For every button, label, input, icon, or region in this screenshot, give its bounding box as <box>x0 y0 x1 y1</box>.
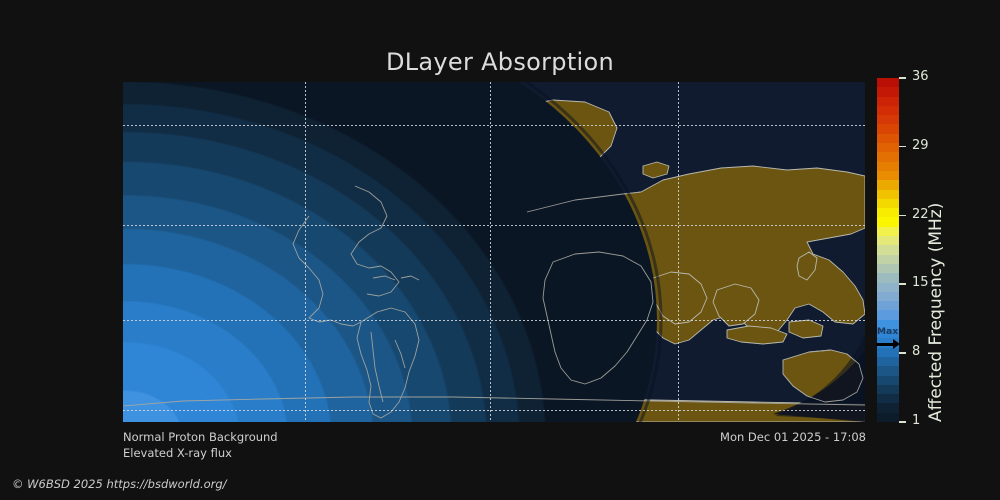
colorbar-segment <box>877 366 899 375</box>
colorbar-segment <box>877 385 899 394</box>
colorbar-segment <box>877 180 899 189</box>
colorbar-tick-label: 1 <box>912 413 920 429</box>
timestamp: Mon Dec 01 2025 - 17:08 <box>720 430 866 444</box>
colorbar-segment <box>877 87 899 96</box>
max-absorption-marker: Max <box>875 327 925 355</box>
arrow-right-icon <box>893 339 900 349</box>
tick-mark-icon <box>899 146 906 148</box>
colorbar-tick-label: 36 <box>912 69 929 85</box>
colorbar-segment <box>877 190 899 199</box>
colorbar-segment <box>877 245 899 254</box>
colorbar-segment <box>877 134 899 143</box>
colorbar-segment <box>877 115 899 124</box>
colorbar-segment <box>877 283 899 292</box>
colorbar-segment <box>877 162 899 171</box>
colorbar-segment <box>877 199 899 208</box>
colorbar[interactable] <box>877 78 899 422</box>
max-marker-label: Max <box>877 327 898 337</box>
colorbar-segment <box>877 403 899 412</box>
colorbar-segment <box>877 124 899 133</box>
colorbar-segment <box>877 255 899 264</box>
colorbar-segment <box>877 357 899 366</box>
colorbar-segment <box>877 413 899 422</box>
dlayer-absorption-figure: DLayer Absorption <box>0 0 1000 500</box>
colorbar-segment <box>877 106 899 115</box>
colorbar-segment <box>877 208 899 217</box>
tick-mark-icon <box>899 215 906 217</box>
colorbar-segment <box>877 152 899 161</box>
tick-mark-icon <box>899 283 906 285</box>
note-proton-background: Normal Proton Background <box>123 429 278 445</box>
colorbar-segment <box>877 273 899 282</box>
colorbar-segment <box>877 97 899 106</box>
colorbar-segment <box>877 301 899 310</box>
colorbar-segment <box>877 292 899 301</box>
note-xray-flux: Elevated X-ray flux <box>123 445 278 461</box>
world-map-panel[interactable] <box>123 82 865 422</box>
colorbar-segment <box>877 171 899 180</box>
colorbar-segment <box>877 264 899 273</box>
status-notes: Normal Proton Background Elevated X-ray … <box>123 429 278 461</box>
colorbar-segment <box>877 236 899 245</box>
colorbar-segment <box>877 217 899 226</box>
colorbar-axis-label: Affected Frequency (MHz) <box>926 203 946 422</box>
colorbar-segment <box>877 310 899 319</box>
colorbar-segment <box>877 394 899 403</box>
colorbar-segment <box>877 227 899 236</box>
colorbar-tick-label: 29 <box>912 138 929 154</box>
page-title: DLayer Absorption <box>0 48 1000 76</box>
world-map-svg <box>123 82 865 422</box>
arrow-shaft-icon <box>876 343 894 346</box>
copyright-notice: © W6BSD 2025 https://bsdworld.org/ <box>12 477 227 491</box>
colorbar-segment <box>877 143 899 152</box>
colorbar-segment <box>877 78 899 87</box>
tick-mark-icon <box>899 421 906 423</box>
colorbar-segment <box>877 376 899 385</box>
tick-mark-icon <box>899 77 906 79</box>
